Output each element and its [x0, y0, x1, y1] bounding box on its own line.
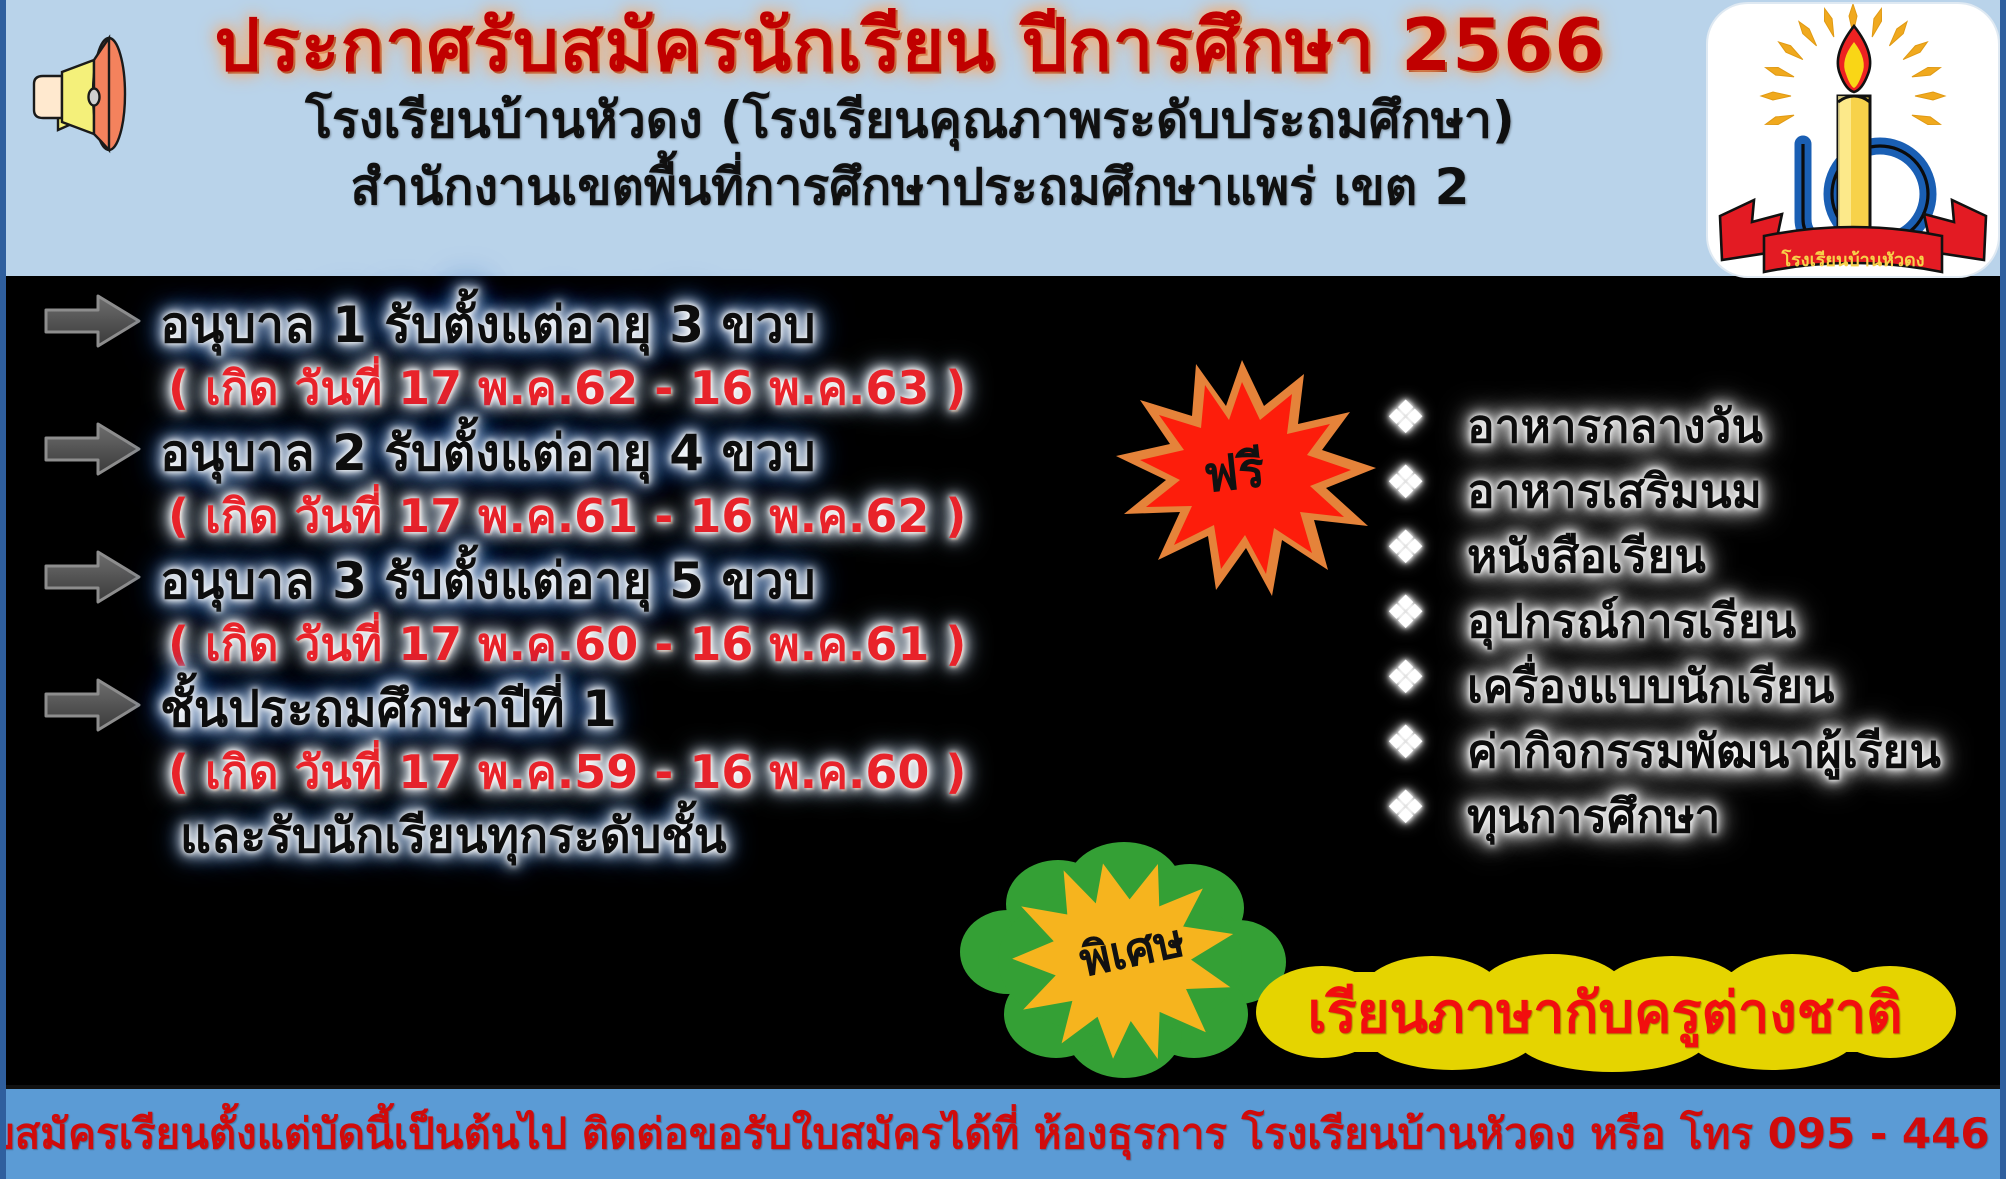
admission-poster: ประกาศรับสมัครนักเรียน ปีการศึกษา 2566 โ…: [0, 0, 2006, 1179]
arrow-right-icon: [40, 676, 145, 734]
list-item: ❖ ทุนการศึกษา: [1385, 782, 2005, 847]
logo-ribbon-text: โรงเรียนบ้านหัวดง: [1780, 249, 1924, 271]
grade-row: อนุบาล 2 รับตั้งแต่อายุ 4 ขวบ: [0, 418, 930, 482]
grade-date-row: ( เกิด วันที่ 17 พ.ค.62 - 16 พ.ค.63 ): [0, 354, 930, 418]
poster-header: ประกาศรับสมัครนักเรียน ปีการศึกษา 2566 โ…: [0, 0, 2006, 281]
header-text-block: ประกาศรับสมัครนักเรียน ปีการศึกษา 2566 โ…: [145, 8, 1675, 218]
grade-date-row: ( เกิด วันที่ 17 พ.ค.59 - 16 พ.ค.60 ): [0, 738, 930, 802]
arrow-right-icon: [40, 420, 145, 478]
diamond-bullet-icon: ❖: [1385, 719, 1426, 765]
benefit-label: อาหารเสริมนม: [1467, 455, 1762, 528]
arrow-right-icon: [40, 292, 145, 350]
grade-date-row: ( เกิด วันที่ 17 พ.ค.60 - 16 พ.ค.61 ): [0, 610, 930, 674]
benefit-label: ค่ากิจกรรมพัฒนาผู้เรียน: [1467, 715, 1941, 788]
frame-right-border: [2000, 0, 2006, 1179]
diamond-bullet-icon: ❖: [1385, 784, 1426, 830]
frame-left-border: [0, 0, 6, 1179]
list-item: ❖ เครื่องแบบนักเรียน: [1385, 652, 2005, 717]
poster-footer: *** รับสมัครเรียนตั้งแต่บัดนี้เป็นต้นไป …: [0, 1085, 2006, 1179]
list-item: ❖ หนังสือเรียน: [1385, 522, 2005, 587]
free-badge-label: ฟรี: [1062, 336, 1405, 608]
footer-contact-text: *** รับสมัครเรียนตั้งแต่บัดนี้เป็นต้นไป …: [0, 1101, 2006, 1167]
education-office: สำนักงานเขตพื้นที่การศึกษาประถมศึกษาแพร่…: [145, 157, 1675, 218]
grade-row: อนุบาล 1 รับตั้งแต่อายุ 3 ขวบ: [0, 290, 930, 354]
page-title: ประกาศรับสมัครนักเรียน ปีการศึกษา 2566: [145, 8, 1675, 84]
language-banner-label: เรียนภาษากับครูต่างชาติ: [1252, 952, 1958, 1072]
benefit-label: อุปกรณ์การเรียน: [1467, 585, 1796, 658]
all-levels-note-row: และรับนักเรียนทุกระดับชั้น: [0, 802, 930, 862]
benefit-label: อาหารกลางวัน: [1467, 390, 1763, 463]
list-item: ❖ อาหารเสริมนม: [1385, 457, 2005, 522]
all-levels-note: และรับนักเรียนทุกระดับชั้น: [180, 798, 727, 874]
grade-list: อนุบาล 1 รับตั้งแต่อายุ 3 ขวบ ( เกิด วัน…: [0, 290, 930, 1090]
grade-row: ชั้นประถมศึกษาปีที่ 1: [0, 674, 930, 738]
benefit-label: หนังสือเรียน: [1467, 520, 1706, 593]
benefit-label: เครื่องแบบนักเรียน: [1467, 650, 1834, 723]
school-logo: โรงเรียนบ้านหัวดง: [1708, 4, 1998, 276]
megaphone-icon: [6, 22, 138, 154]
benefit-label: ทุนการศึกษา: [1467, 780, 1720, 853]
diamond-bullet-icon: ❖: [1385, 654, 1426, 700]
list-item: ❖ อาหารกลางวัน: [1385, 392, 2005, 457]
grade-row: อนุบาล 3 รับตั้งแต่อายุ 5 ขวบ: [0, 546, 930, 610]
free-badge: ฟรี: [1082, 360, 1402, 600]
special-badge: พิเศษ: [940, 838, 1300, 1090]
language-banner: เรียนภาษากับครูต่างชาติ: [1252, 952, 1958, 1072]
list-item: ❖ อุปกรณ์การเรียน: [1385, 587, 2005, 652]
school-name: โรงเรียนบ้านหัวดง (โรงเรียนคุณภาพระดับปร…: [145, 90, 1675, 151]
list-item: ❖ ค่ากิจกรรมพัฒนาผู้เรียน: [1385, 717, 2005, 782]
arrow-right-icon: [40, 548, 145, 606]
benefits-list: ❖ อาหารกลางวัน ❖ อาหารเสริมนม ❖ หนังสือเ…: [1385, 392, 2005, 847]
grade-date-row: ( เกิด วันที่ 17 พ.ค.61 - 16 พ.ค.62 ): [0, 482, 930, 546]
